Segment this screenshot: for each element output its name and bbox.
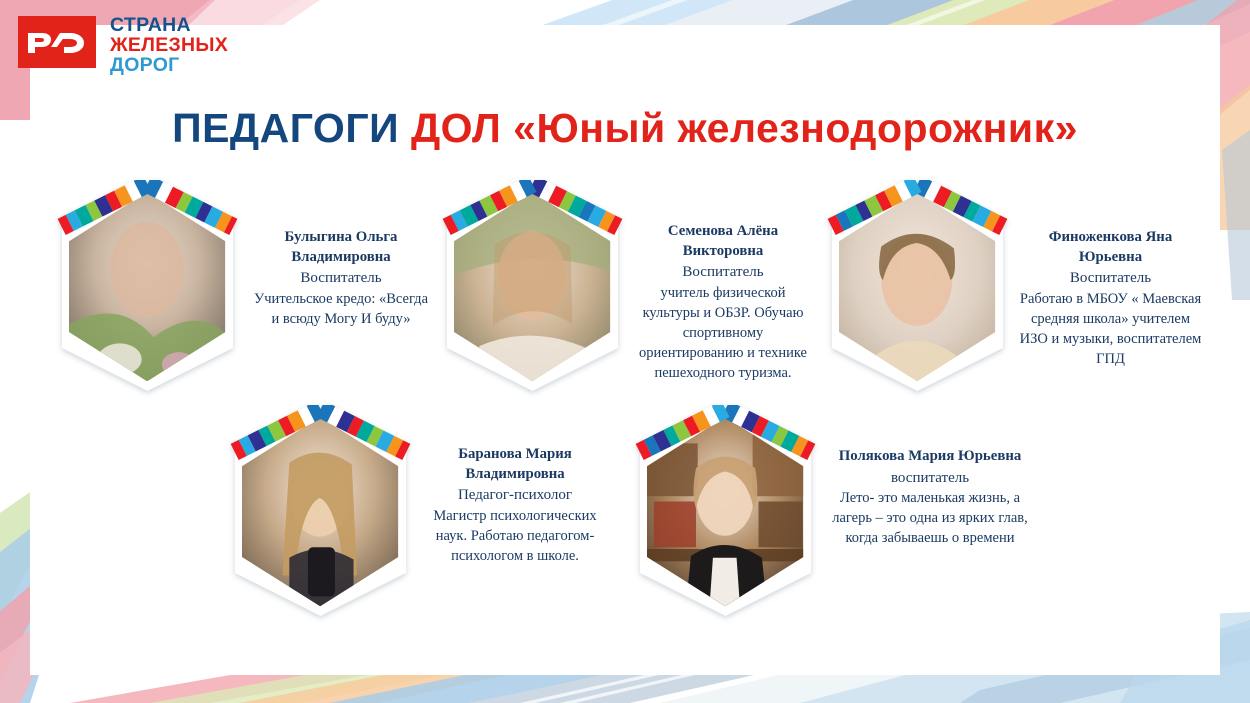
person-description: Учительское кредо: «Всегда и всюду Могу … — [252, 289, 430, 329]
people-row-top: Булыгина Ольга Владимировна Воспитатель … — [0, 180, 1250, 395]
person-name: Финоженкова Яна Юрьевна — [1018, 228, 1203, 267]
rzd-logo-icon — [18, 16, 96, 68]
person-description: Магистр психологических наук. Работаю пе… — [425, 506, 605, 566]
page-title: ПЕДАГОГИ ДОЛ «Юный железнодорожник» — [0, 105, 1250, 152]
person-photo-frame — [228, 405, 413, 620]
person-role: Воспитатель — [252, 268, 430, 289]
person-description: учитель физической культуры и ОБЗР. Обуч… — [635, 283, 811, 383]
person-role: воспитатель — [830, 468, 1030, 489]
person-card: Баранова Мария Владимировна Педагог-псих… — [228, 405, 628, 620]
person-photo-frame — [633, 405, 818, 620]
person-info: Семенова Алёна Викторовна Воспитатель уч… — [635, 180, 811, 383]
logo-wordmark: СТРАНА ЖЕЛЕЗНЫХ ДОРОГ — [110, 16, 228, 76]
people-row-bottom: Баранова Мария Владимировна Педагог-псих… — [0, 405, 1250, 620]
person-card: Полякова Мария Юрьевна воспитатель Лето-… — [633, 405, 1033, 620]
person-role: Педагог-психолог — [425, 485, 605, 506]
person-card: Булыгина Ольга Владимировна Воспитатель … — [55, 180, 435, 395]
person-description: Лето- это маленькая жизнь, а лагерь – эт… — [830, 488, 1030, 548]
person-name: Полякова Мария Юрьевна — [830, 447, 1030, 467]
person-photo-frame — [55, 180, 240, 395]
person-name: Булыгина Ольга Владимировна — [252, 228, 430, 267]
person-card: Семенова Алёна Викторовна Воспитатель уч… — [440, 180, 820, 395]
person-info: Полякова Мария Юрьевна воспитатель Лето-… — [830, 405, 1030, 548]
person-info: Баранова Мария Владимировна Педагог-псих… — [425, 405, 605, 566]
person-role: Воспитатель — [635, 262, 811, 283]
person-info: Булыгина Ольга Владимировна Воспитатель … — [252, 180, 430, 329]
logo-line-3: ДОРОГ — [110, 56, 228, 76]
brand-logo: СТРАНА ЖЕЛЕЗНЫХ ДОРОГ — [18, 16, 228, 76]
logo-line-2: ЖЕЛЕЗНЫХ — [110, 36, 228, 56]
person-photo-frame — [825, 180, 1010, 395]
person-description: Работаю в МБОУ « Маевская средняя школа»… — [1018, 289, 1203, 369]
title-part-blue: ПЕДАГОГИ — [172, 105, 411, 151]
person-card: Финоженкова Яна Юрьевна Воспитатель Рабо… — [825, 180, 1215, 395]
person-photo-frame — [440, 180, 625, 395]
slide-root: СТРАНА ЖЕЛЕЗНЫХ ДОРОГ ПЕДАГОГИ ДОЛ «Юный… — [0, 0, 1250, 703]
logo-line-1: СТРАНА — [110, 16, 228, 36]
title-part-red: ДОЛ «Юный железнодорожник» — [411, 105, 1078, 151]
person-info: Финоженкова Яна Юрьевна Воспитатель Рабо… — [1018, 180, 1203, 369]
person-name: Баранова Мария Владимировна — [425, 445, 605, 484]
person-name: Семенова Алёна Викторовна — [635, 222, 811, 261]
person-role: Воспитатель — [1018, 268, 1203, 289]
